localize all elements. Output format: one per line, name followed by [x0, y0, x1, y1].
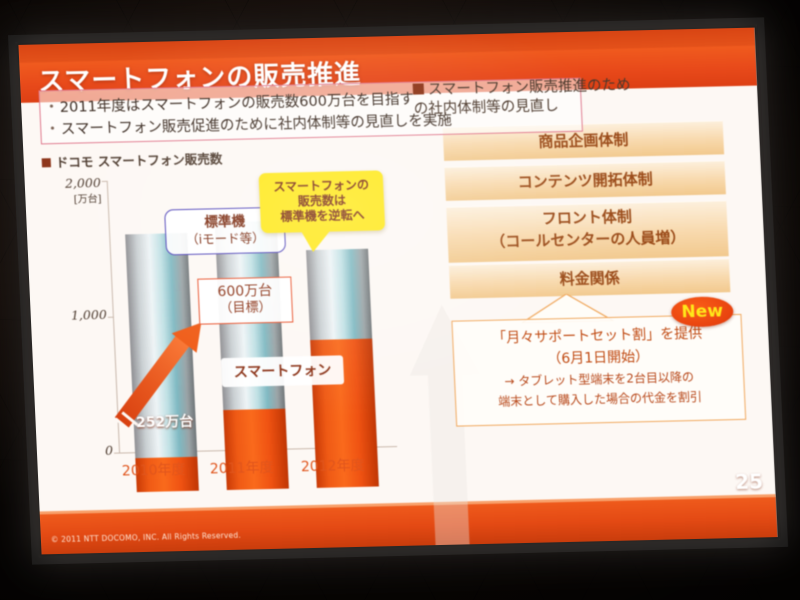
label-target-line2: （目標） — [199, 300, 292, 319]
right-panel-heading: スマートフォン販売推進のため の社内体制等の見直し — [413, 74, 745, 120]
bubble-line1: スマートフォンの — [262, 177, 381, 195]
page-number: 25 — [735, 469, 764, 494]
sales-bar-chart: 2,000 [万台] 1,000 0 — [44, 166, 399, 494]
square-bullet-icon — [413, 83, 424, 94]
bullet-text: スマートフォン販売促進のために社内体制等の見直しを実施 — [60, 113, 452, 138]
square-bullet-icon — [42, 158, 51, 167]
measure-box-label: 商品企画体制 — [538, 131, 629, 151]
callout-bubble-reversal: スマートフォンの 販売数は 標準機を逆転へ — [259, 170, 386, 233]
y-axis-unit-label: [万台] — [45, 190, 102, 206]
bar-2011 — [215, 221, 289, 490]
y-tick-label-2000: 2,000 — [44, 175, 101, 191]
x-tick-label-2011: 2011年度 — [209, 457, 274, 478]
measure-box-content-development[interactable]: コンテンツ開拓体制 — [444, 160, 726, 201]
measure-box-label: コンテンツ開拓体制 — [517, 170, 653, 191]
y-tick-label-1000: 1,000 — [50, 307, 107, 323]
chart-heading: ドコモ スマートフォン販売数 — [41, 148, 222, 171]
right-heading-line1: スマートフォン販売推進のため — [428, 78, 631, 99]
y-tick-1000 — [108, 317, 114, 318]
bullet-dot-icon: • — [49, 122, 56, 135]
right-heading-line2: の社内体制等の見直し — [413, 98, 559, 117]
x-tick-label-2012: 2012年度 — [300, 455, 365, 476]
y-tick-label-0: 0 — [57, 443, 114, 459]
bubble-line3: 標準機を逆転へ — [263, 207, 382, 225]
label-smartphone: スマートフォン — [221, 355, 344, 387]
chart-heading-text: ドコモ スマートフォン販売数 — [55, 151, 222, 170]
measure-box-label: 料金関係 — [559, 269, 620, 288]
note-line4: 端末として購入した場合の代金を割引 — [456, 387, 745, 411]
label-target-600: 600万台 （目標） — [197, 277, 293, 325]
bullet-dot-icon: • — [48, 100, 55, 113]
y-tick-2000 — [102, 181, 108, 182]
projection-screen: スマートフォンの販売推進 •2011年度はスマートフォンの販売数600万台を目指… — [8, 17, 788, 564]
y-tick-0 — [114, 453, 120, 454]
label-2010-value: 252万台 — [127, 411, 202, 433]
x-tick-label-2010: 2010年度 — [121, 459, 186, 480]
measure-box-front-line[interactable]: フロント体制 （コールセンターの人員増） — [446, 200, 729, 263]
note-line2: （6月1日開始） — [454, 344, 743, 371]
note-box-monthly-support: 「月々サポートセット割」を提供 （6月1日開始） → タブレット型端末を2台目以… — [451, 314, 746, 427]
label-target-line1: 600万台 — [198, 282, 291, 302]
presentation-slide: スマートフォンの販売推進 •2011年度はスマートフォンの販売数600万台を目指… — [18, 28, 777, 555]
